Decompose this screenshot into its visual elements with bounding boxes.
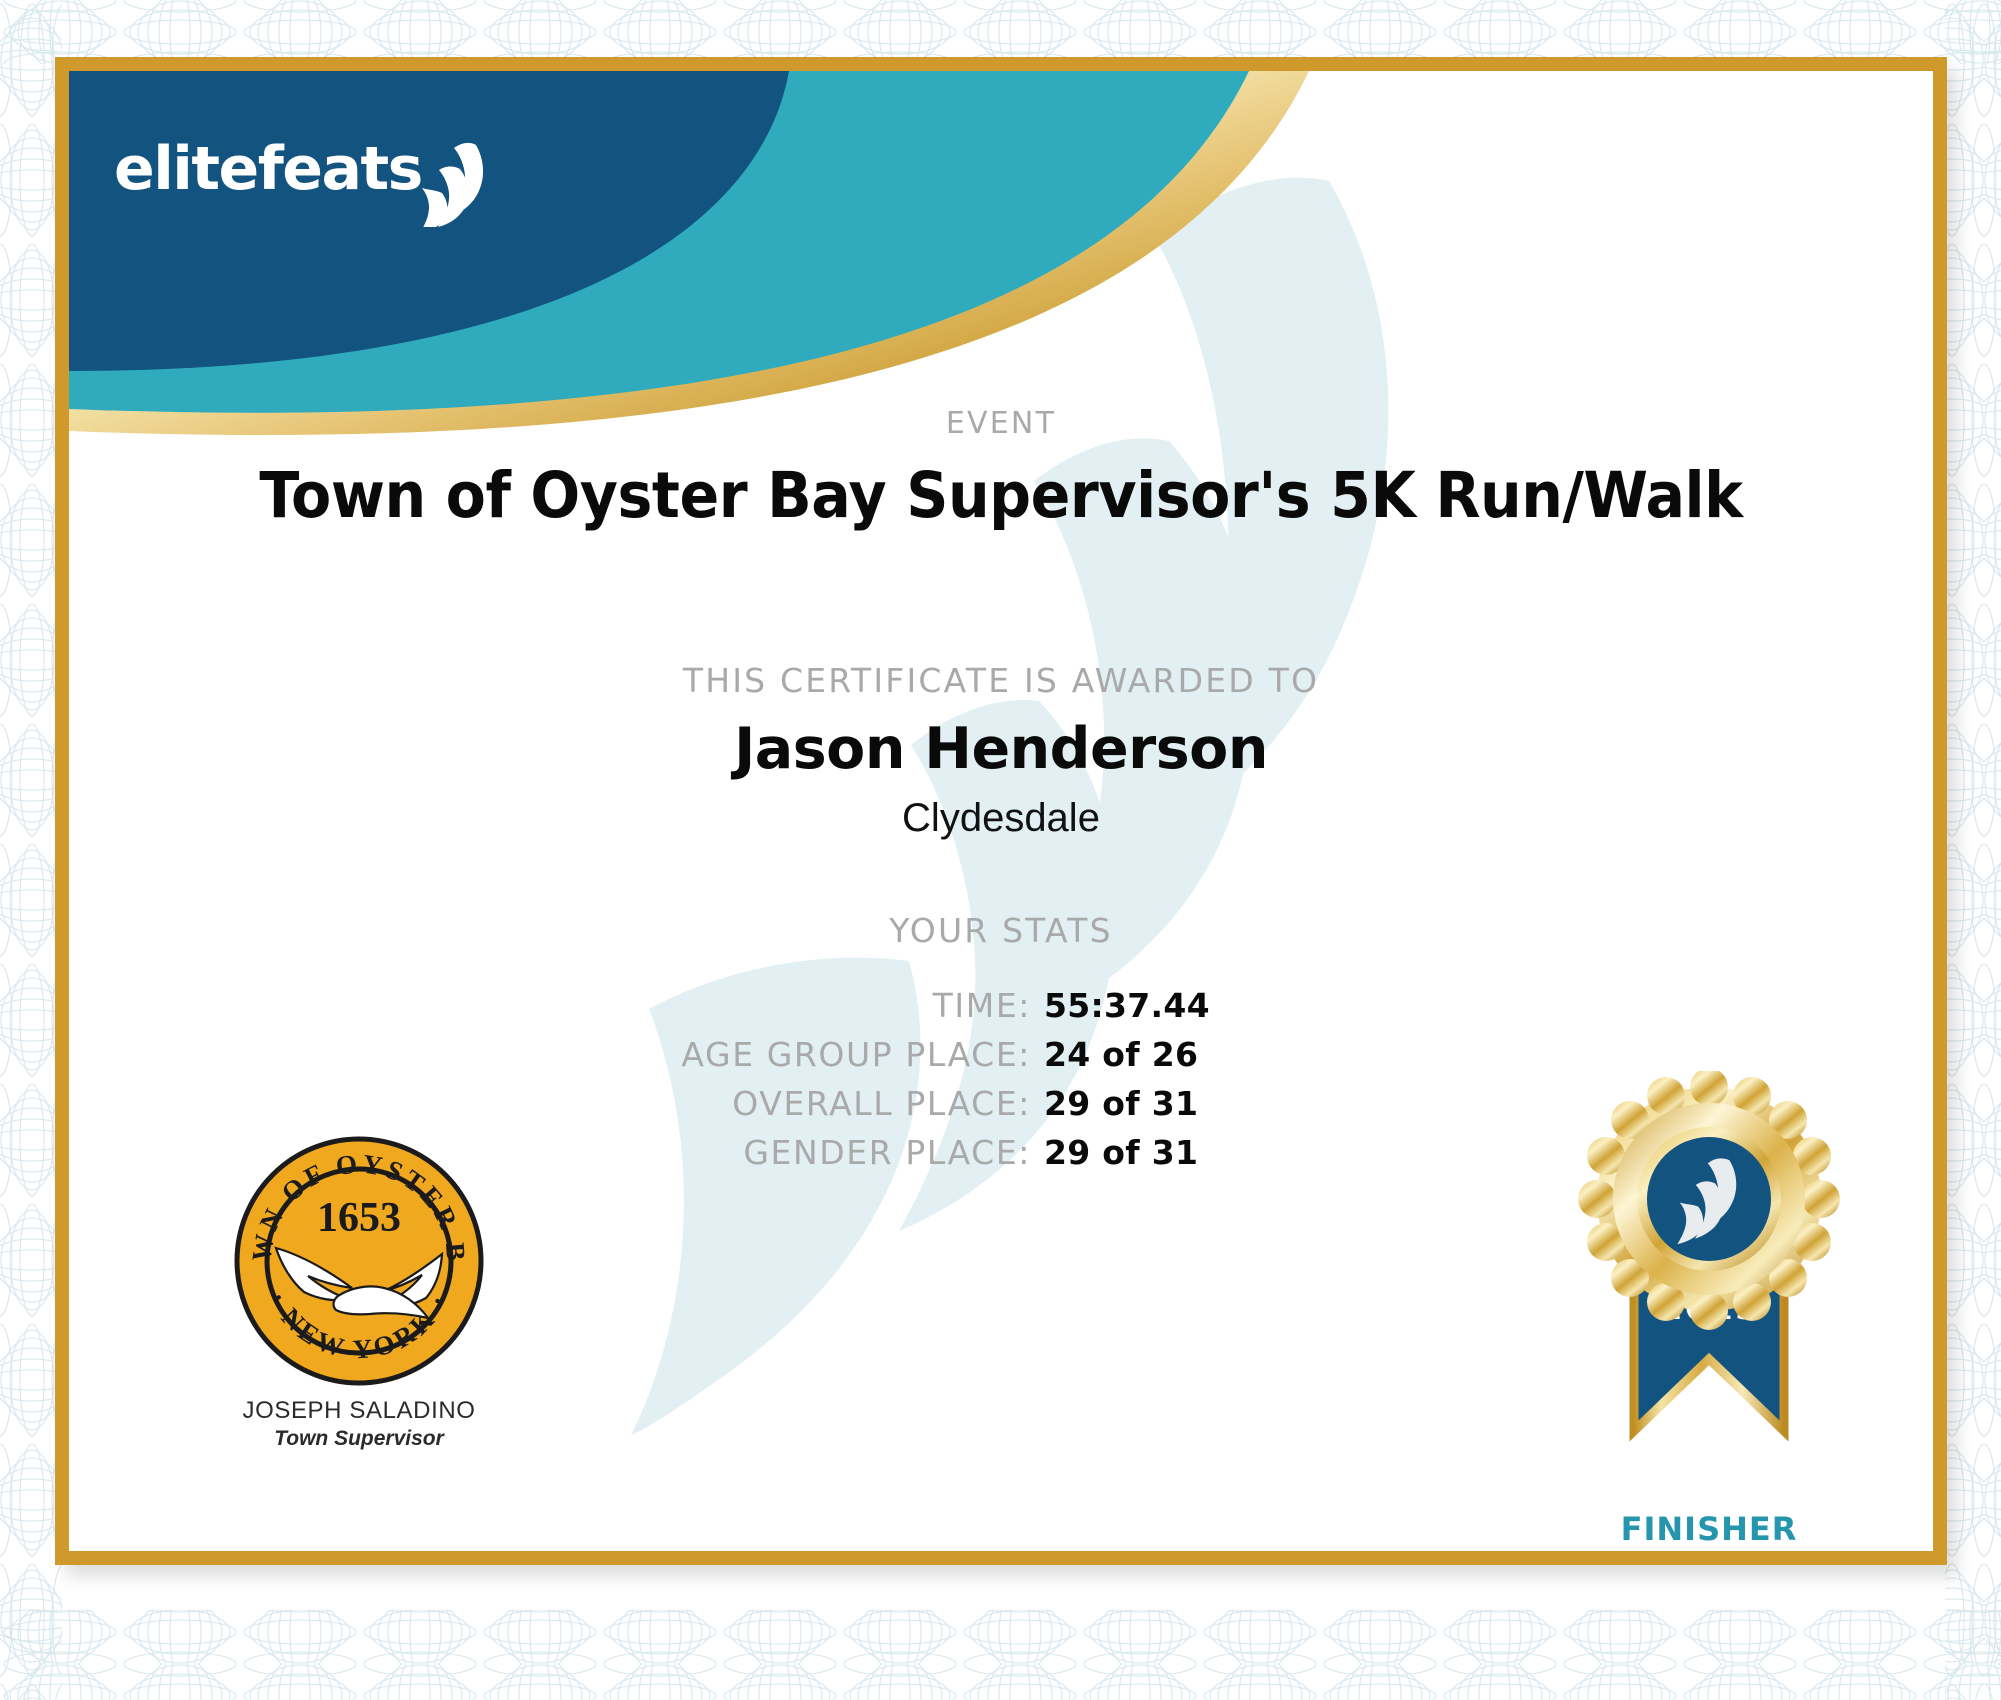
stat-value: 29 of 31 (1044, 1084, 1481, 1123)
town-seal-block: TOWN OF OYSTER BAY · NEW YORK · 1653 JOS… (214, 1136, 504, 1451)
stat-row: TIME: 55:37.44 (521, 986, 1481, 1025)
stat-row: OVERALL PLACE: 29 of 31 (521, 1084, 1481, 1123)
svg-text:1653: 1653 (317, 1195, 401, 1241)
finisher-medal-icon: 2023 (1559, 1071, 1859, 1501)
stat-value: 29 of 31 (1044, 1133, 1481, 1172)
event-caption-label: EVENT (69, 406, 1933, 441)
recipient-name: Jason Henderson (69, 716, 1933, 782)
event-title: Town of Oyster Bay Supervisor's 5K Run/W… (134, 459, 1868, 532)
stats-caption-label: YOUR STATS (69, 911, 1933, 950)
stat-label: AGE GROUP PLACE: (521, 1035, 1044, 1074)
finisher-caption: FINISHER CERTIFICATE (1529, 1512, 1889, 1565)
awarded-to-label: THIS CERTIFICATE IS AWARDED TO (69, 661, 1933, 700)
seal-signature-role: Town Supervisor (214, 1427, 504, 1451)
stat-label: OVERALL PLACE: (521, 1084, 1044, 1123)
finisher-caption-line1: FINISHER (1529, 1512, 1889, 1547)
stat-value: 24 of 26 (1044, 1035, 1481, 1074)
stat-label: TIME: (521, 986, 1044, 1025)
recipient-division: Clydesdale (69, 796, 1933, 841)
stat-label: GENDER PLACE: (521, 1133, 1044, 1172)
finisher-caption-line2: CERTIFICATE (1529, 1547, 1889, 1565)
town-of-oyster-bay-seal-icon: TOWN OF OYSTER BAY · NEW YORK · 1653 (234, 1136, 484, 1386)
certificate-card: elitefeats EVENT Town of Oyster Bay Supe… (55, 57, 1947, 1565)
stat-value: 55:37.44 (1044, 986, 1481, 1025)
certificate-content: EVENT Town of Oyster Bay Supervisor's 5K… (69, 71, 1933, 1551)
stat-row: AGE GROUP PLACE: 24 of 26 (521, 1035, 1481, 1074)
stat-row: GENDER PLACE: 29 of 31 (521, 1133, 1481, 1172)
seal-signature-name: JOSEPH SALADINO (214, 1397, 504, 1425)
finisher-badge-block: 2023 (1529, 1071, 1889, 1565)
